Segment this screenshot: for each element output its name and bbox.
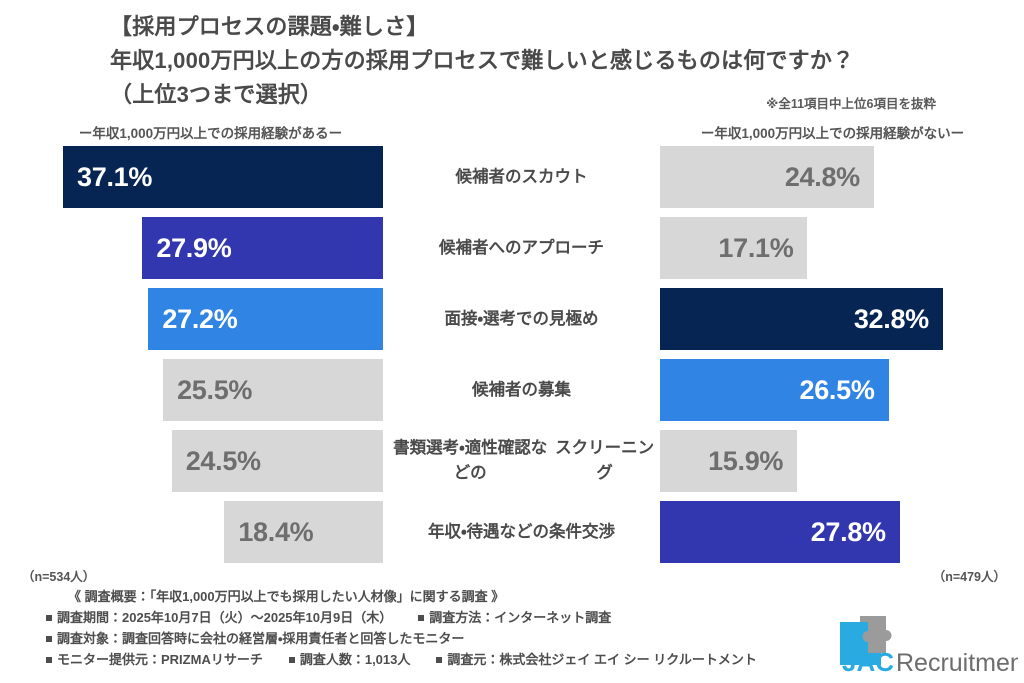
bar-value-right: 17.1% xyxy=(718,235,793,262)
bar-left: 37.1% xyxy=(63,146,383,208)
jac-logo-svg: JAC Recruitment xyxy=(838,614,1018,676)
category-label-text: 年収・待遇などの条件交渉 xyxy=(428,520,615,545)
bullet-icon xyxy=(289,657,295,663)
bar-value-left: 37.1% xyxy=(77,164,152,191)
bar-value-left: 25.5% xyxy=(177,377,252,404)
category-label-text: 面接・選考での見極め xyxy=(444,307,598,332)
bar-value-right: 27.8% xyxy=(811,519,886,546)
bullet-icon xyxy=(418,615,424,621)
logo-brand-text: JAC xyxy=(842,647,894,676)
survey-method: 調査方法：インターネット調査 xyxy=(429,610,611,625)
chart-row: 37.1%候補者のスカウト24.8% xyxy=(0,146,1024,208)
bar-value-right: 24.8% xyxy=(785,164,860,191)
page-title-line-1: 【採用プロセスの課題・難しさ】 xyxy=(110,10,1010,44)
page-title-line-2: 年収1,000万円以上の方の採用プロセスで難しいと感じるものは何ですか？ xyxy=(110,44,1010,78)
category-label-text: 候補者へのアプローチ xyxy=(439,236,604,261)
bar-left: 18.4% xyxy=(224,501,383,563)
respondent-count: 調査人数：1,013人 xyxy=(300,652,411,667)
bar-right: 32.8% xyxy=(660,288,943,350)
survey-source: 調査元：株式会社ジェイ エイ シー リクルートメント xyxy=(447,652,756,667)
excerpt-note: ※全11項目中上位6項目を抜粋 xyxy=(766,93,936,112)
right-series-heading: ー年収1,000万円以上での採用経験がないー xyxy=(660,122,1005,142)
bar-left: 27.2% xyxy=(148,288,383,350)
bar-right: 26.5% xyxy=(660,359,889,421)
bar-left: 24.5% xyxy=(172,430,383,492)
category-label-text-line2: スクリーニング xyxy=(553,436,656,486)
footnote-line-4: モニター提供元：PRIZMAリサーチ調査人数：1,013人調査元：株式会社ジェイ… xyxy=(46,649,866,670)
bar-value-left: 24.5% xyxy=(186,448,261,475)
category-label: 年収・待遇などの条件交渉 xyxy=(383,501,660,563)
chart-row: 18.4%年収・待遇などの条件交渉27.8% xyxy=(0,501,1024,563)
bar-right: 24.8% xyxy=(660,146,874,208)
left-series-heading: ー年収1,000万円以上での採用経験があるー xyxy=(38,122,383,142)
bullet-icon xyxy=(46,615,52,621)
bar-left: 25.5% xyxy=(163,359,383,421)
category-label: 候補者へのアプローチ xyxy=(383,217,660,279)
bullet-icon xyxy=(46,636,52,642)
bar-value-left: 27.2% xyxy=(162,306,237,333)
bar-value-left: 18.4% xyxy=(238,519,313,546)
bar-left: 27.9% xyxy=(142,217,383,279)
bar-value-right: 15.9% xyxy=(708,448,783,475)
chart-row: 25.5%候補者の募集26.5% xyxy=(0,359,1024,421)
bar-right: 27.8% xyxy=(660,501,900,563)
survey-period: 調査期間：2025年10月7日（火）〜2025年10月9日（木） xyxy=(57,610,392,625)
category-label: 書類選考・適性確認などのスクリーニング xyxy=(383,430,660,492)
category-label: 候補者の募集 xyxy=(383,359,660,421)
bar-value-right: 26.5% xyxy=(800,377,875,404)
bar-right: 15.9% xyxy=(660,430,797,492)
monitor-provider: モニター提供元：PRIZMAリサーチ xyxy=(57,652,263,667)
category-label-text: 候補者の募集 xyxy=(472,378,571,403)
bar-right: 17.1% xyxy=(660,217,807,279)
right-sample-size: （n=479人） xyxy=(933,566,1006,585)
footnote-summary: 《 調査概要：「年収1,000万円以上でも採用したい人材像」に関する調査 》 xyxy=(46,586,866,607)
logo-word-text: Recruitment xyxy=(896,649,1018,676)
bullet-icon xyxy=(436,657,442,663)
diverging-bar-chart: 37.1%候補者のスカウト24.8%27.9%候補者へのアプローチ17.1%27… xyxy=(0,146,1024,572)
footnote-line-3: 調査対象：調査回答時に会社の経営層・採用責任者と回答したモニター xyxy=(46,628,866,649)
chart-row: 27.9%候補者へのアプローチ17.1% xyxy=(0,217,1024,279)
survey-target: 調査対象：調査回答時に会社の経営層・採用責任者と回答したモニター xyxy=(57,631,464,646)
chart-row: 24.5%書類選考・適性確認などのスクリーニング15.9% xyxy=(0,430,1024,492)
survey-footnote: 《 調査概要：「年収1,000万円以上でも採用したい人材像」に関する調査 》 調… xyxy=(46,586,866,670)
footnote-line-2: 調査期間：2025年10月7日（火）〜2025年10月9日（木）調査方法：インタ… xyxy=(46,607,866,628)
category-label: 面接・選考での見極め xyxy=(383,288,660,350)
bar-value-right: 32.8% xyxy=(854,306,929,333)
chart-row: 27.2%面接・選考での見極め32.8% xyxy=(0,288,1024,350)
jac-recruitment-logo: JAC Recruitment xyxy=(838,614,1018,676)
category-label-text: 候補者のスカウト xyxy=(456,165,588,190)
bullet-icon xyxy=(46,657,52,663)
left-sample-size: （n=534人） xyxy=(22,566,95,585)
bar-value-left: 27.9% xyxy=(156,235,231,262)
category-label: 候補者のスカウト xyxy=(383,146,660,208)
category-label-text: 書類選考・適性確認などの xyxy=(387,436,553,486)
